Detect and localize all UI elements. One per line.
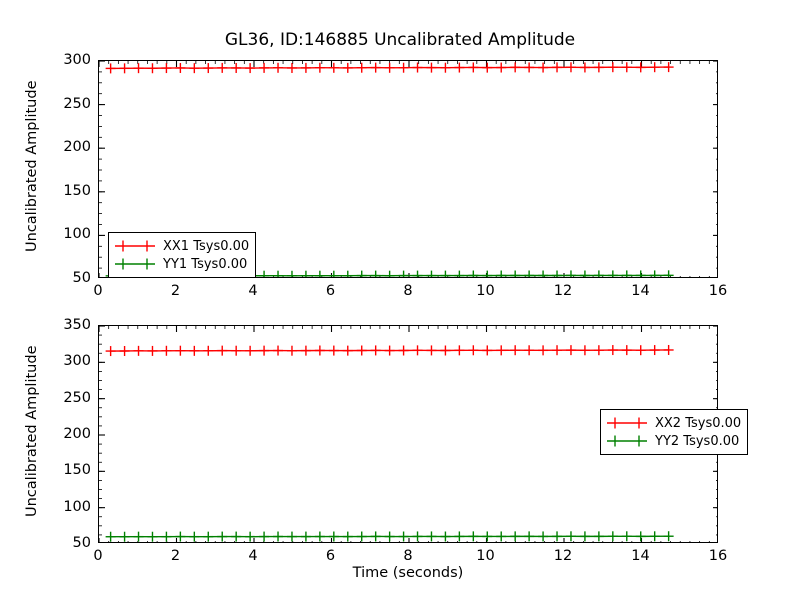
legend-entry: YY1 Tsys0.00 xyxy=(114,255,249,273)
legend-label: XX1 Tsys0.00 xyxy=(163,239,249,254)
x-tick-label: 0 xyxy=(93,548,102,564)
legend-marker-icon xyxy=(114,257,156,271)
y-tick-label: 100 xyxy=(63,499,91,515)
legend-label: XX2 Tsys0.00 xyxy=(655,416,741,431)
y-tick-label: 350 xyxy=(63,317,91,333)
y-tick-label: 300 xyxy=(63,52,91,68)
y-tick-label: 300 xyxy=(63,353,91,369)
x-tick-label: 10 xyxy=(476,283,494,299)
y-tick-label: 250 xyxy=(63,96,91,112)
legend-label: YY2 Tsys0.00 xyxy=(655,434,739,449)
x-tick-label: 14 xyxy=(631,283,649,299)
y-axis-label-bottom: Uncalibrated Amplitude xyxy=(24,346,40,518)
data-series xyxy=(106,345,674,356)
data-series xyxy=(106,531,674,542)
x-tick-label: 16 xyxy=(709,283,727,299)
x-tick-label: 8 xyxy=(403,283,412,299)
y-tick-label: 200 xyxy=(63,139,91,155)
x-axis-label: Time (seconds) xyxy=(98,565,718,581)
legend-top: XX1 Tsys0.00 YY1 Tsys0.00 xyxy=(108,232,256,278)
x-tick-label: 2 xyxy=(171,283,180,299)
legend-bottom: XX2 Tsys0.00 YY2 Tsys0.00 xyxy=(600,409,748,455)
x-tick-label: 12 xyxy=(554,548,572,564)
x-tick-label: 14 xyxy=(631,548,649,564)
legend-marker-icon xyxy=(606,416,648,430)
legend-marker-icon xyxy=(114,239,156,253)
x-tick-label: 10 xyxy=(476,548,494,564)
matplotlib-figure: GL36, ID:146885 Uncalibrated Amplitude U… xyxy=(0,0,800,600)
x-tick-label: 12 xyxy=(554,283,572,299)
x-tick-label: 6 xyxy=(326,548,335,564)
x-tick-label: 16 xyxy=(709,548,727,564)
x-tick-label: 4 xyxy=(248,283,257,299)
x-tick-label: 8 xyxy=(403,548,412,564)
x-tick-label: 4 xyxy=(248,548,257,564)
x-tick-label: 6 xyxy=(326,283,335,299)
legend-entry: YY2 Tsys0.00 xyxy=(606,432,741,450)
y-tick-label: 250 xyxy=(63,390,91,406)
y-tick-label: 150 xyxy=(63,462,91,478)
y-tick-label: 50 xyxy=(73,535,91,551)
legend-marker-icon xyxy=(606,434,648,448)
legend-entry: XX1 Tsys0.00 xyxy=(114,237,249,255)
y-axis-label-top: Uncalibrated Amplitude xyxy=(24,81,40,253)
data-series xyxy=(106,62,674,73)
y-tick-label: 200 xyxy=(63,426,91,442)
y-tick-label: 50 xyxy=(73,270,91,286)
page-title: GL36, ID:146885 Uncalibrated Amplitude xyxy=(0,30,800,50)
x-tick-label: 2 xyxy=(171,548,180,564)
y-tick-label: 100 xyxy=(63,226,91,242)
x-tick-label: 0 xyxy=(93,283,102,299)
legend-label: YY1 Tsys0.00 xyxy=(163,257,247,272)
legend-entry: XX2 Tsys0.00 xyxy=(606,414,741,432)
y-tick-label: 150 xyxy=(63,183,91,199)
